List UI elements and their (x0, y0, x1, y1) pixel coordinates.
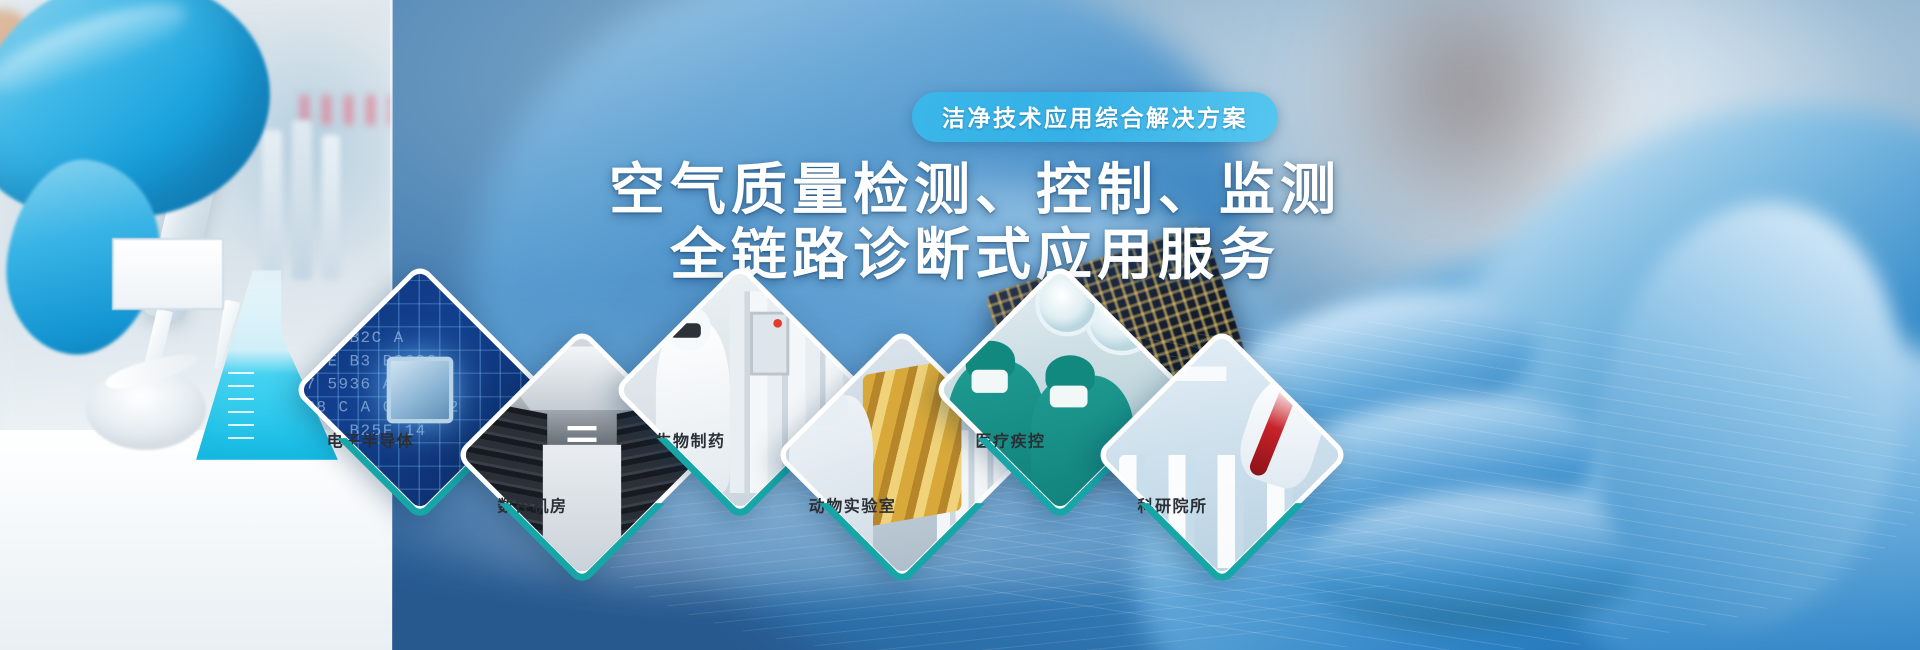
card-label: 医疗疾控 (941, 427, 1081, 451)
surgeon-b-mask (1050, 385, 1087, 407)
control-panel (750, 311, 789, 375)
researcher-hand (1232, 367, 1336, 493)
card-label: 动物实验室 (783, 492, 923, 516)
card-label: 生物制药 (621, 427, 761, 451)
card-label: 科研院所 (1103, 492, 1243, 516)
ceiling-lights (567, 425, 597, 429)
cleanroom-goggles (671, 323, 701, 338)
server-aisle-floor (543, 445, 622, 575)
chip-die (387, 357, 454, 424)
surgeon-a-mask (971, 370, 1008, 392)
industry-card-row: E2 F D59267 8 B2C A0 E B3 B26937 5936 A … (0, 0, 1920, 650)
card-label: 电子半导体 (301, 427, 441, 451)
indicator-light (773, 318, 782, 327)
banner-stage: 洁净技术应用综合解决方案 空气质量检测、控制、监测 全链路诊断式应用服务 E2 … (0, 0, 1920, 650)
card-label: 数控机房 (463, 492, 603, 516)
surgical-lamp-b (1035, 272, 1099, 336)
